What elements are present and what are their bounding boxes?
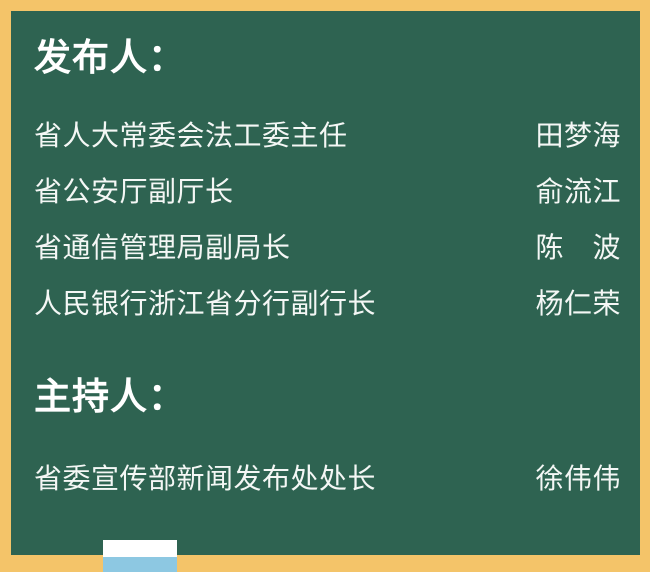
speaker-row-3: 省通信管理局副局长 陈 波 <box>34 228 621 268</box>
speaker-title-3: 省通信管理局副局长 <box>34 228 291 268</box>
slide-card: 发布人： 省人大常委会法工委主任 田梦海 省公安厅副厅长 俞流江 省通信管理局副… <box>0 0 650 572</box>
bottom-marker-block <box>103 540 177 572</box>
section-title-host: 主持人： <box>34 378 186 415</box>
speaker-name-2: 俞流江 <box>535 172 621 212</box>
speaker-title-1: 省人大常委会法工委主任 <box>34 116 348 156</box>
host-name-1: 徐伟伟 <box>535 459 621 499</box>
speaker-name-3: 陈 波 <box>535 228 621 268</box>
section-title-speakers: 发布人： <box>34 39 186 76</box>
speaker-row-4: 人民银行浙江省分行副行长 杨仁荣 <box>34 284 621 324</box>
host-row-1: 省委宣传部新闻发布处处长 徐伟伟 <box>34 459 621 499</box>
speaker-name-4: 杨仁荣 <box>535 284 621 324</box>
host-title-1: 省委宣传部新闻发布处处长 <box>34 459 376 499</box>
speaker-row-2: 省公安厅副厅长 俞流江 <box>34 172 621 212</box>
marker-top-white <box>103 540 177 557</box>
green-board: 发布人： 省人大常委会法工委主任 田梦海 省公安厅副厅长 俞流江 省通信管理局副… <box>11 11 640 555</box>
marker-bottom-blue <box>103 557 177 572</box>
speaker-title-4: 人民银行浙江省分行副行长 <box>34 284 376 324</box>
speaker-title-2: 省公安厅副厅长 <box>34 172 234 212</box>
speaker-name-1: 田梦海 <box>535 116 621 156</box>
speaker-row-1: 省人大常委会法工委主任 田梦海 <box>34 116 621 156</box>
